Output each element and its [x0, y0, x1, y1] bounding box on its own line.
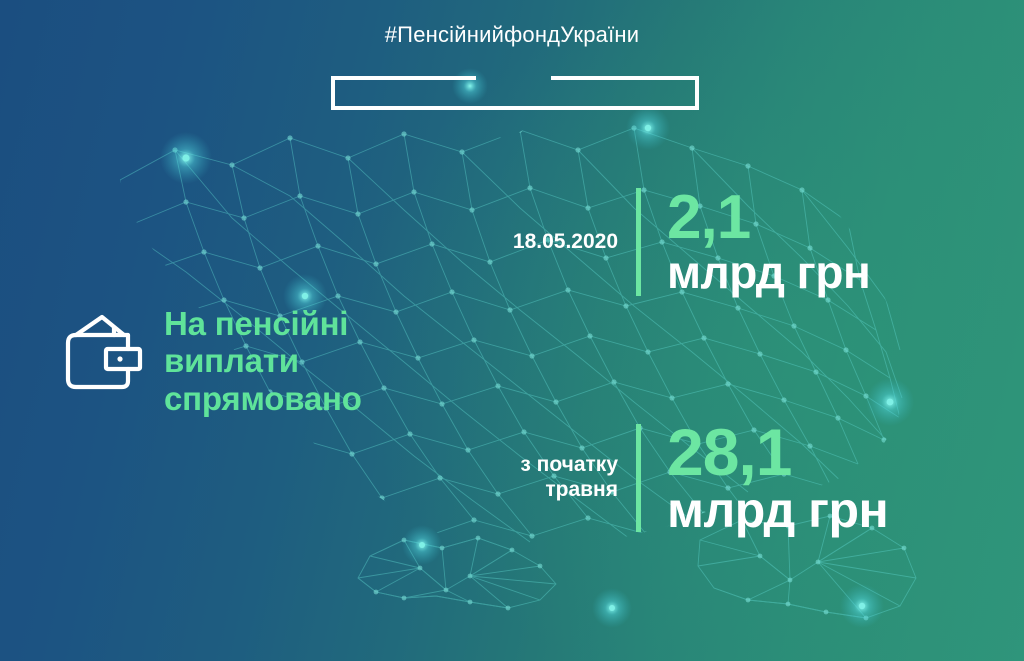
stat-number: 2,1 — [667, 188, 870, 249]
wallet-icon — [62, 313, 146, 393]
stat-value-group: 28,1 млрд грн — [667, 420, 888, 536]
frame-left-border — [331, 76, 335, 110]
stat-divider — [636, 188, 641, 296]
logo-frame — [331, 76, 699, 110]
stat-row-month-to-date: з початку травня 28,1 млрд грн — [470, 420, 888, 536]
frame-top-right-segment — [551, 76, 699, 80]
stat-row-daily: 18.05.2020 2,1 млрд грн — [470, 188, 870, 296]
headline-caption: На пенсійні виплати спрямовано — [164, 305, 362, 417]
stat-value-group: 2,1 млрд грн — [667, 188, 870, 296]
stat-unit: млрд грн — [667, 249, 870, 296]
frame-right-border — [695, 76, 699, 110]
stat-divider — [636, 424, 641, 532]
stat-unit: млрд грн — [667, 485, 888, 536]
frame-top-left-segment — [331, 76, 476, 80]
stat-label-period: з початку травня — [470, 453, 618, 502]
hashtag-text: #ПенсійнийфондУкраїни — [0, 22, 1024, 48]
infographic-poster: #ПенсійнийфондУкраїни На пенсійні виплат… — [0, 0, 1024, 661]
frame-bottom-border — [331, 106, 699, 110]
stat-label-date: 18.05.2020 — [470, 230, 618, 254]
stat-number: 28,1 — [667, 420, 888, 485]
headline-block: На пенсійні виплати спрямовано — [62, 305, 362, 417]
